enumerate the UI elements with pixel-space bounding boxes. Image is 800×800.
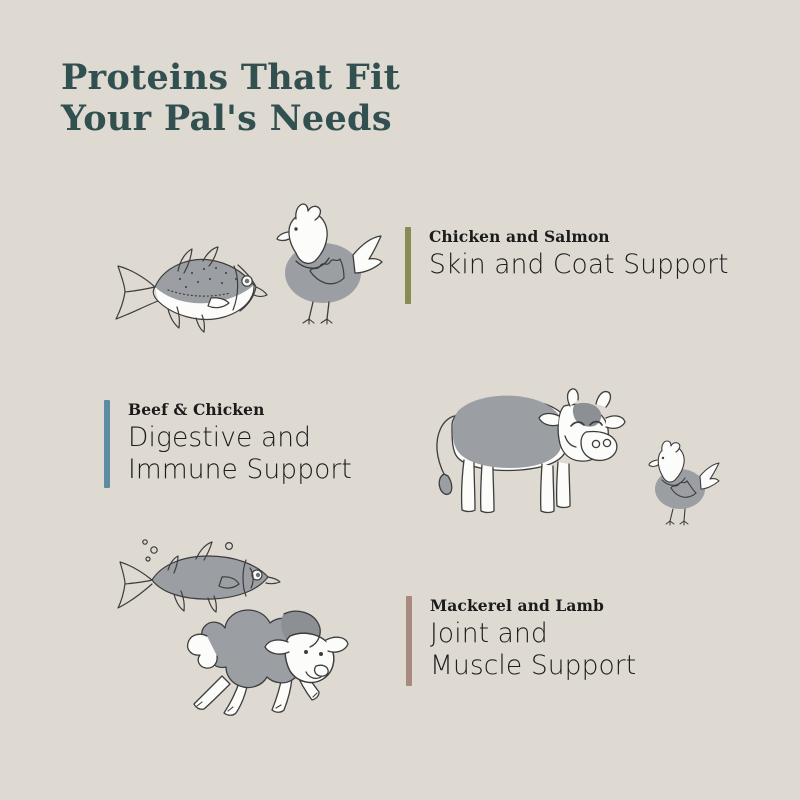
chicken-illustration (641, 432, 721, 527)
benefit-label: Skin and Coat Support (429, 249, 729, 281)
cow-illustration (424, 364, 629, 529)
protein-label: Beef & Chicken (128, 400, 352, 419)
benefit-block-digestive-and-immune: Beef & Chicken Digestive and Immune Supp… (104, 400, 352, 488)
page-title: Proteins That Fit Your Pal's Needs (61, 57, 400, 139)
benefit-label: Digestive and Immune Support (128, 422, 352, 486)
infographic-canvas: Proteins That Fit Your Pal's Needs (0, 0, 800, 800)
sheep-illustration (166, 592, 356, 717)
chicken-illustration (263, 193, 388, 328)
benefit-block-joint-and-muscle: Mackerel and Lamb Joint and Muscle Suppo… (406, 596, 636, 686)
protein-label: Mackerel and Lamb (430, 596, 636, 615)
salmon-illustration (108, 235, 273, 335)
benefit-label: Joint and Muscle Support (430, 618, 636, 682)
benefit-block-skin-and-coat: Chicken and Salmon Skin and Coat Support (405, 227, 729, 304)
protein-label: Chicken and Salmon (429, 227, 729, 246)
